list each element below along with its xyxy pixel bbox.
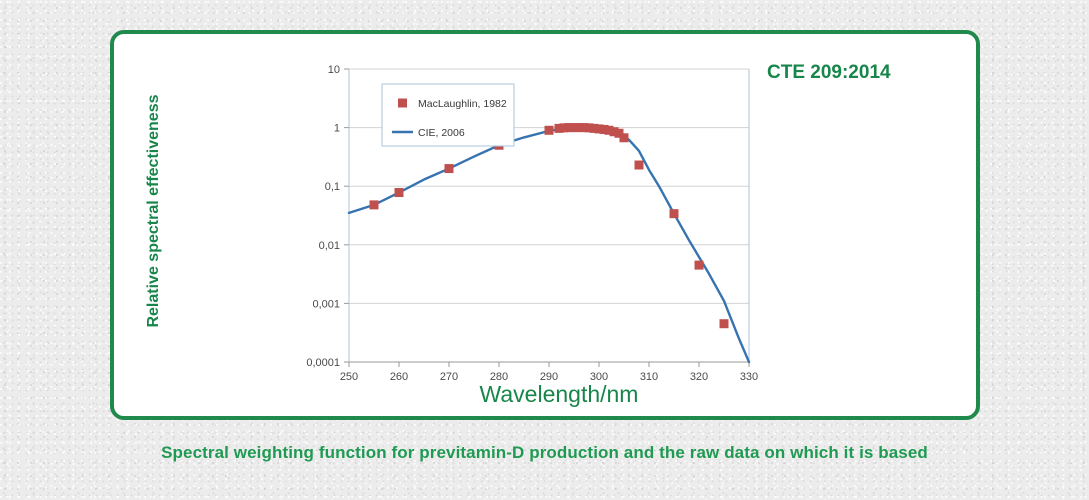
svg-text:310: 310 [640,371,658,383]
svg-text:0,1: 0,1 [325,181,340,193]
svg-text:0,0001: 0,0001 [306,357,340,369]
svg-text:320: 320 [690,371,708,383]
svg-text:300: 300 [590,371,608,383]
svg-text:1: 1 [334,123,340,135]
svg-text:CIE, 2006: CIE, 2006 [418,127,465,139]
svg-text:280: 280 [490,371,508,383]
y-axis-tick-labels: 1010,10,010,0010,0001 [306,64,340,369]
svg-text:0,001: 0,001 [312,298,340,310]
svg-text:270: 270 [440,371,458,383]
series-maclaughlin-1982-markers [370,123,729,328]
svg-text:330: 330 [740,371,758,383]
slide-caption: Spectral weighting function for previtam… [0,443,1089,463]
chart-plot-svg: 1010,10,010,0010,0001 250260270280290300… [114,34,984,424]
chart-card: CTE 209:2014 Relative spectral effective… [110,30,980,420]
svg-text:260: 260 [390,371,408,383]
svg-text:10: 10 [328,64,340,76]
chart-figure: CTE 209:2014 Relative spectral effective… [114,34,976,416]
x-axis-tick-labels: 250260270280290300310320330 [340,371,758,383]
svg-text:250: 250 [340,371,358,383]
svg-text:MacLaughlin, 1982: MacLaughlin, 1982 [418,98,507,110]
svg-text:0,01: 0,01 [319,240,340,252]
chart-legend: MacLaughlin, 1982CIE, 2006 [382,84,514,146]
svg-text:290: 290 [540,371,558,383]
